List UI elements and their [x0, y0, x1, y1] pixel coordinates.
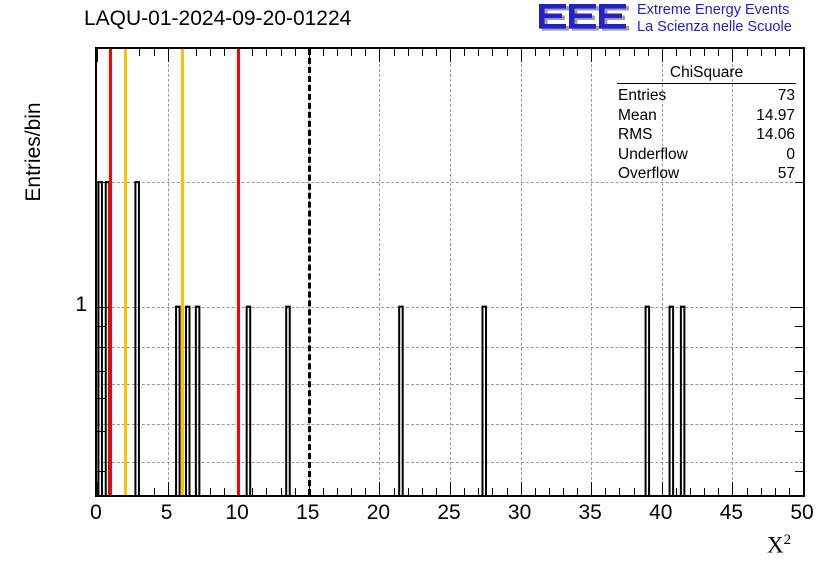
black-cut-line	[308, 49, 311, 495]
eee-logo: Extreme Energy Events La Scienza nelle S…	[537, 2, 833, 36]
histogram-bar	[196, 307, 200, 495]
eee-logo-text: Extreme Energy Events La Scienza nelle S…	[637, 2, 836, 36]
x-tick-major	[803, 482, 804, 495]
x-axis-tick-label: 0	[66, 501, 126, 525]
histogram-bar	[135, 182, 139, 495]
stats-row-value: 14.97	[756, 106, 795, 126]
histogram-bar	[98, 182, 102, 495]
x-axis-tick-label: 30	[490, 501, 550, 525]
histogram-bar	[176, 307, 180, 495]
stats-box-rule	[617, 83, 796, 84]
stats-row-key: Mean	[618, 106, 657, 126]
x-tick-major	[803, 49, 804, 62]
stats-row-value: 73	[778, 86, 795, 106]
orange-line-low	[124, 49, 127, 495]
y-axis-tick-label: 1	[47, 293, 87, 317]
stats-row-value: 57	[778, 164, 795, 184]
stats-box-rows: Entries73Mean14.97RMS14.06Underflow0Over…	[611, 86, 802, 184]
stats-row: Overflow57	[611, 164, 802, 184]
x-axis-title-base: X	[767, 533, 784, 558]
red-line-high	[237, 49, 240, 495]
x-axis-tick-label: 20	[348, 501, 408, 525]
stats-row-value: 14.06	[756, 125, 795, 145]
histogram-bar	[646, 307, 650, 495]
x-axis-tick-label: 45	[701, 501, 761, 525]
y-axis-title: Entries/bin	[22, 82, 46, 222]
histogram-bar	[670, 307, 674, 495]
eee-logo-line-2: La Scienza nelle Scuole	[637, 19, 836, 36]
stats-row-key: RMS	[618, 125, 652, 145]
x-axis-tick-label: 15	[278, 501, 338, 525]
x-axis-title: X2	[767, 532, 791, 559]
stats-row: RMS14.06	[611, 125, 802, 145]
histogram-bar	[482, 307, 486, 495]
x-axis-tick-label: 25	[419, 501, 479, 525]
histogram-bar	[186, 307, 190, 495]
stats-row-value: 0	[786, 145, 795, 165]
stats-row-key: Entries	[618, 86, 666, 106]
eee-logo-mark	[537, 4, 633, 34]
histogram-bar	[399, 307, 403, 495]
stats-row-key: Underflow	[618, 145, 688, 165]
x-axis-tick-label: 40	[631, 501, 691, 525]
stats-row: Entries73	[611, 86, 802, 106]
histogram-bar	[681, 307, 685, 495]
histogram-bar	[286, 307, 290, 495]
stats-box-title: ChiSquare	[611, 64, 802, 83]
stats-box: ChiSquare Entries73Mean14.97RMS14.06Unde…	[611, 64, 802, 204]
histogram-bar	[247, 307, 251, 495]
x-axis-title-exponent: 2	[784, 532, 792, 548]
page-title: LAQU-01-2024-09-20-01224	[84, 7, 351, 31]
x-axis-tick-label: 10	[207, 501, 267, 525]
orange-line-high	[181, 49, 184, 495]
stats-row: Mean14.97	[611, 106, 802, 126]
eee-logo-line-1: Extreme Energy Events	[637, 2, 836, 19]
x-axis-tick-label: 35	[560, 501, 620, 525]
x-axis-tick-label: 50	[772, 501, 832, 525]
red-line-low	[109, 49, 112, 495]
root-canvas: LAQU-01-2024-09-20-01224	[0, 0, 836, 572]
stats-row: Underflow0	[611, 145, 802, 165]
x-axis-tick-label: 5	[137, 501, 197, 525]
stats-row-key: Overflow	[618, 164, 679, 184]
